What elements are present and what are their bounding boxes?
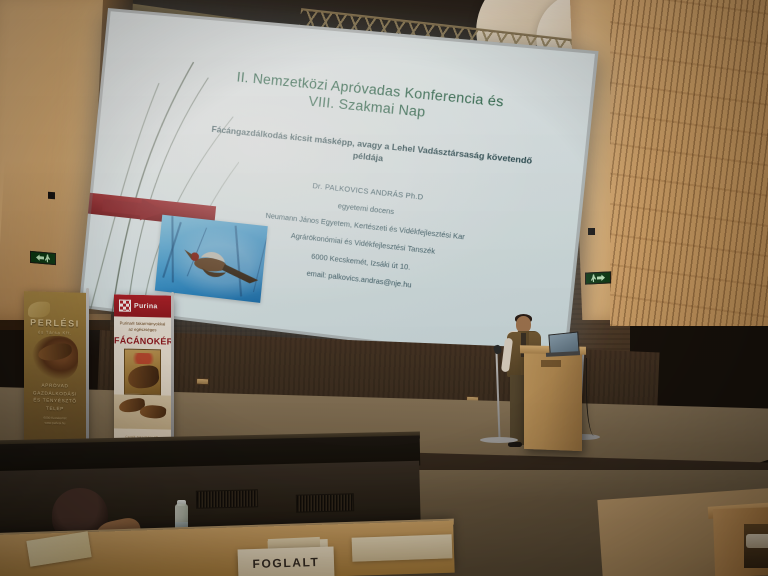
exit-arrow-icon [36,253,44,262]
wall-fixture [588,228,595,235]
banner-footer-line: www.perlesi.hu [24,420,86,426]
running-man-icon [45,254,50,262]
wall-outlet [196,378,209,385]
lectern-logo [541,360,561,367]
wall-fixture [48,192,55,200]
purina-logo-bar: Purina [114,294,171,317]
purina-wordmark: Purina [134,302,158,309]
desk-vent [296,493,354,512]
feed-bag-badge [129,353,158,365]
purina-feed-bag-graphic [124,349,161,396]
banner-perlesi-subtitle: és Társa Kft. [24,329,86,336]
banner-leaf-graphic [28,301,50,318]
banner-perlesi-title: PERLÉSI [24,317,86,329]
wood-slat-wall [610,0,768,326]
presenter-shoe [508,442,522,447]
banner-body-line: TELEP [24,404,86,413]
exit-sign-icon [30,251,56,265]
reserved-sign: FOGLALT [238,546,335,576]
bench-cloth [746,534,768,548]
banner-perlesi: PERLÉSI és Társa Kft. APRÓVAD GAZDÁLKODÁ… [24,291,86,445]
banner-pole-purina [171,292,174,444]
feed-bag-pheasant [127,365,160,390]
purina-headline: FÁCÁNOKÉRT [114,335,171,346]
purina-tagline: Purina® takarmányokkal az egészséges [114,320,171,334]
exit-sign-icon [585,271,611,284]
exit-arrow-icon [597,274,605,282]
banner-perlesi-footer: 6000 Kecskemét www.perlesi.hu [24,415,86,426]
stage-cable [586,358,600,436]
name-card-right [352,534,453,561]
reserved-sign-label: FOGLALT [252,555,319,571]
banner-perlesi-body: APRÓVAD GAZDÁLKODÁSI ÉS TENYÉSZTŐ TELEP [24,381,86,413]
running-man-icon [591,274,596,282]
desk-vent [196,489,258,509]
microphone-base [480,437,518,443]
banner-purina: Purina Purina® takarmányokkal az egészsé… [114,294,171,443]
banner-pole-perlesi [86,288,89,446]
purina-checkerboard-icon [119,300,131,312]
conference-hall-photo: II. Nemzetközi Apróvadas Konferencia és … [0,0,768,576]
